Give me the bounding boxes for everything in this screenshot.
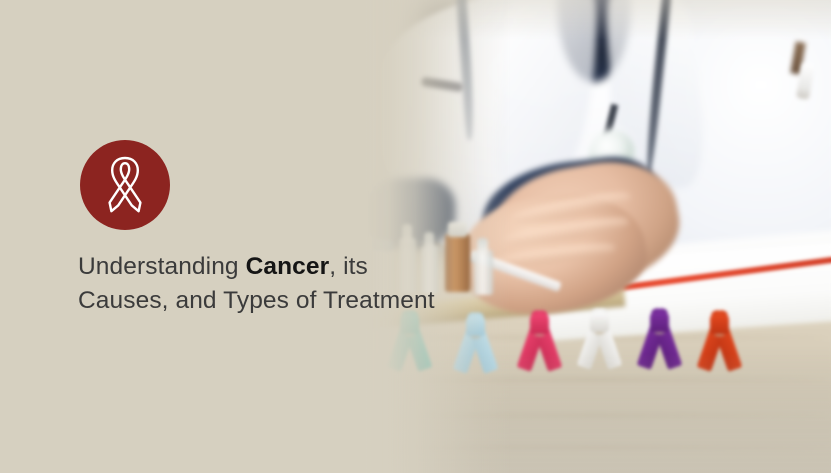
banner-content: Understanding Cancer, its Causes, and Ty… bbox=[0, 0, 470, 473]
ribbon-purple bbox=[633, 308, 685, 370]
ribbon-knot bbox=[710, 314, 729, 334]
headline-emphasis: Cancer bbox=[246, 253, 330, 280]
glass-ampoule-neck bbox=[477, 238, 488, 253]
page-title: Understanding Cancer, its Causes, and Ty… bbox=[78, 250, 470, 318]
ribbon-knot bbox=[650, 312, 669, 332]
ribbon-badge bbox=[80, 140, 170, 230]
cancer-awareness-banner: Understanding Cancer, its Causes, and Ty… bbox=[0, 0, 831, 473]
headline-before: Understanding bbox=[78, 253, 246, 280]
ribbon-orange bbox=[693, 310, 745, 372]
ribbon-pink bbox=[513, 310, 565, 372]
ribbon-knot bbox=[530, 314, 549, 334]
glass-ampoule bbox=[474, 250, 493, 295]
awareness-ribbon-icon bbox=[98, 154, 152, 216]
ribbon-white bbox=[573, 308, 625, 370]
ribbon-knot bbox=[590, 312, 609, 332]
